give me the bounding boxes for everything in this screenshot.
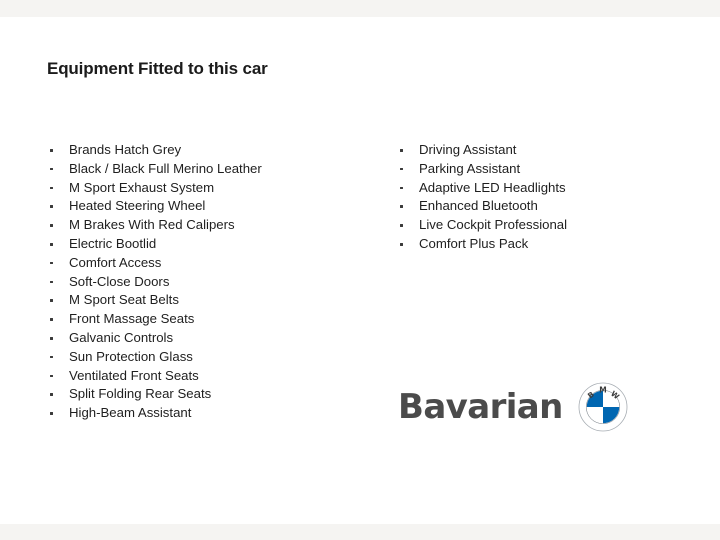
bullet-icon — [400, 187, 403, 190]
list-item-label: Front Massage Seats — [69, 311, 194, 326]
list-item: Comfort Access — [47, 254, 377, 273]
bullet-icon — [50, 205, 53, 208]
list-item-label: Live Cockpit Professional — [419, 217, 567, 232]
list-item-label: M Sport Exhaust System — [69, 180, 214, 195]
bullet-icon — [50, 356, 53, 359]
bullet-icon — [50, 149, 53, 152]
list-item: Black / Black Full Merino Leather — [47, 160, 377, 179]
list-item-label: Adaptive LED Headlights — [419, 180, 566, 195]
list-item-label: Parking Assistant — [419, 161, 520, 176]
list-item: Enhanced Bluetooth — [397, 197, 697, 216]
list-item: Comfort Plus Pack — [397, 235, 697, 254]
list-item-label: High-Beam Assistant — [69, 405, 191, 420]
list-item: M Sport Seat Belts — [47, 291, 377, 310]
list-item: Sun Protection Glass — [47, 348, 377, 367]
list-item-label: Soft-Close Doors — [69, 274, 169, 289]
list-item: Adaptive LED Headlights — [397, 179, 697, 198]
bullet-icon — [50, 393, 53, 396]
list-item: Live Cockpit Professional — [397, 216, 697, 235]
list-item: Soft-Close Doors — [47, 273, 377, 292]
list-item: Ventilated Front Seats — [47, 367, 377, 386]
list-item: Driving Assistant — [397, 141, 697, 160]
bullet-icon — [400, 243, 403, 246]
list-item: Electric Bootlid — [47, 235, 377, 254]
list-item: Parking Assistant — [397, 160, 697, 179]
list-item: M Brakes With Red Calipers — [47, 216, 377, 235]
bullet-icon — [50, 168, 53, 171]
bullet-icon — [50, 375, 53, 378]
equipment-list-left: Brands Hatch GreyBlack / Black Full Meri… — [47, 141, 377, 423]
list-item-label: Brands Hatch Grey — [69, 142, 181, 157]
list-item: Front Massage Seats — [47, 310, 377, 329]
bottom-band — [0, 524, 720, 540]
list-item-label: Electric Bootlid — [69, 236, 156, 251]
bavarian-wordmark: Bavarian — [398, 390, 563, 424]
list-item-label: M Sport Seat Belts — [69, 292, 179, 307]
list-item-label: Sun Protection Glass — [69, 349, 193, 364]
bullet-icon — [400, 224, 403, 227]
brand-lockup: Bavarian B M W — [398, 380, 628, 434]
bmw-roundel-icon: B M W — [578, 382, 628, 432]
bullet-icon — [50, 262, 53, 265]
bullet-icon — [50, 412, 53, 415]
bullet-icon — [400, 205, 403, 208]
list-item-label: M Brakes With Red Calipers — [69, 217, 235, 232]
equipment-left-column: Brands Hatch GreyBlack / Black Full Meri… — [47, 141, 377, 423]
list-item: M Sport Exhaust System — [47, 179, 377, 198]
list-item-label: Galvanic Controls — [69, 330, 173, 345]
top-band — [0, 0, 720, 17]
list-item-label: Comfort Access — [69, 255, 161, 270]
bullet-icon — [50, 187, 53, 190]
list-item: Galvanic Controls — [47, 329, 377, 348]
list-item-label: Heated Steering Wheel — [69, 198, 205, 213]
list-item-label: Comfort Plus Pack — [419, 236, 528, 251]
bullet-icon — [50, 318, 53, 321]
bullet-icon — [50, 281, 53, 284]
bullet-icon — [50, 243, 53, 246]
list-item-label: Ventilated Front Seats — [69, 368, 199, 383]
bullet-icon — [50, 299, 53, 302]
list-item-label: Split Folding Rear Seats — [69, 386, 211, 401]
equipment-right-column: Driving AssistantParking AssistantAdapti… — [397, 141, 697, 254]
list-item: Brands Hatch Grey — [47, 141, 377, 160]
bullet-icon — [400, 168, 403, 171]
svg-text:M: M — [599, 386, 606, 395]
list-item-label: Enhanced Bluetooth — [419, 198, 538, 213]
list-item: Heated Steering Wheel — [47, 197, 377, 216]
list-item: Split Folding Rear Seats — [47, 385, 377, 404]
equipment-list-right: Driving AssistantParking AssistantAdapti… — [397, 141, 697, 254]
list-item-label: Black / Black Full Merino Leather — [69, 161, 262, 176]
bullet-icon — [50, 224, 53, 227]
list-item: High-Beam Assistant — [47, 404, 377, 423]
bullet-icon — [50, 337, 53, 340]
page-title: Equipment Fitted to this car — [47, 59, 268, 79]
bullet-icon — [400, 149, 403, 152]
list-item-label: Driving Assistant — [419, 142, 516, 157]
equipment-page: Equipment Fitted to this car Brands Hatc… — [0, 0, 720, 540]
